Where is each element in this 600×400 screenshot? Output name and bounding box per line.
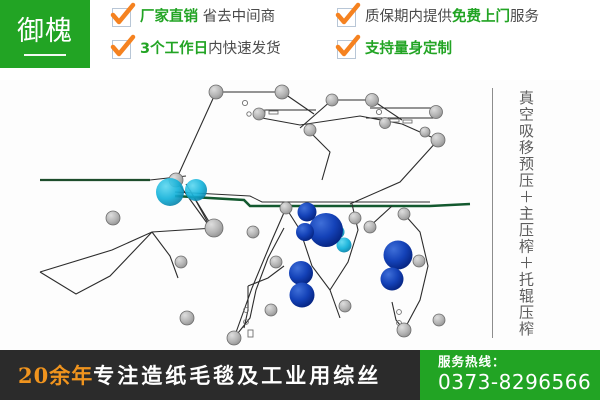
vertical-caption: 真空吸移预压＋主压榨＋托辊压榨 [500,90,534,342]
brand-logo-underline [24,54,66,56]
feature-bullet-1-highlight: 厂家直销 [140,9,198,25]
check-icon [337,40,356,59]
hotline-block[interactable]: 服务热线： 0373-8296566 [420,350,600,400]
feature-bullet-2-label: 3个工作日内快速发货 [140,41,281,58]
diagram-rolls [106,85,445,345]
feature-bullet-4-label: 支持量身定制 [365,41,452,58]
feature-bullet-2-highlight: 3个工作日 [140,41,208,57]
feature-bullet-4-highlight: 支持量身定制 [365,41,452,57]
feature-bullet-3-label: 质保期内提供免费上门服务 [365,9,539,26]
feature-bullet-1-label: 厂家直销 省去中间商 [140,9,275,26]
feature-bullet-2: 3个工作日内快速发货 [112,40,281,59]
hotline-number[interactable]: 0373-8296566 [438,370,600,394]
caption-divider [492,88,493,338]
promo-banner: 御槐 厂家直销 省去中间商 3个工作日内快速发货 [0,0,600,400]
footer-slogan: 20余年 专注造纸毛毯及工业用综丝 [18,350,381,400]
feature-bullet-1: 厂家直销 省去中间商 [112,8,275,27]
feature-bullet-3-post: 服务 [510,9,539,25]
brand-logo: 御槐 [0,0,90,68]
brand-logo-text: 御槐 [17,17,73,47]
check-icon [112,40,131,59]
diagram-stage: 真空吸移预压＋主压榨＋托辊压榨 [0,80,600,350]
check-icon [112,8,131,27]
feature-bullet-3-pre: 质保期内提供 [365,9,452,25]
feature-bullet-list: 厂家直销 省去中间商 3个工作日内快速发货 质保期内提供免费上门服务 [112,4,600,74]
header: 御槐 厂家直销 省去中间商 3个工作日内快速发货 [0,0,600,80]
feature-bullet-3: 质保期内提供免费上门服务 [337,8,539,27]
check-icon [337,8,356,27]
feature-bullet-4: 支持量身定制 [337,40,452,59]
feature-bullet-1-rest: 省去中间商 [198,9,275,25]
footer-years: 20余年 [18,360,93,390]
feature-bullet-2-rest: 内快速发货 [208,41,281,57]
hotline-label: 服务热线： [438,354,600,370]
feature-bullet-3-highlight: 免费上门 [452,9,510,25]
footer-slogan-text: 专注造纸毛毯及工业用综丝 [93,360,381,390]
